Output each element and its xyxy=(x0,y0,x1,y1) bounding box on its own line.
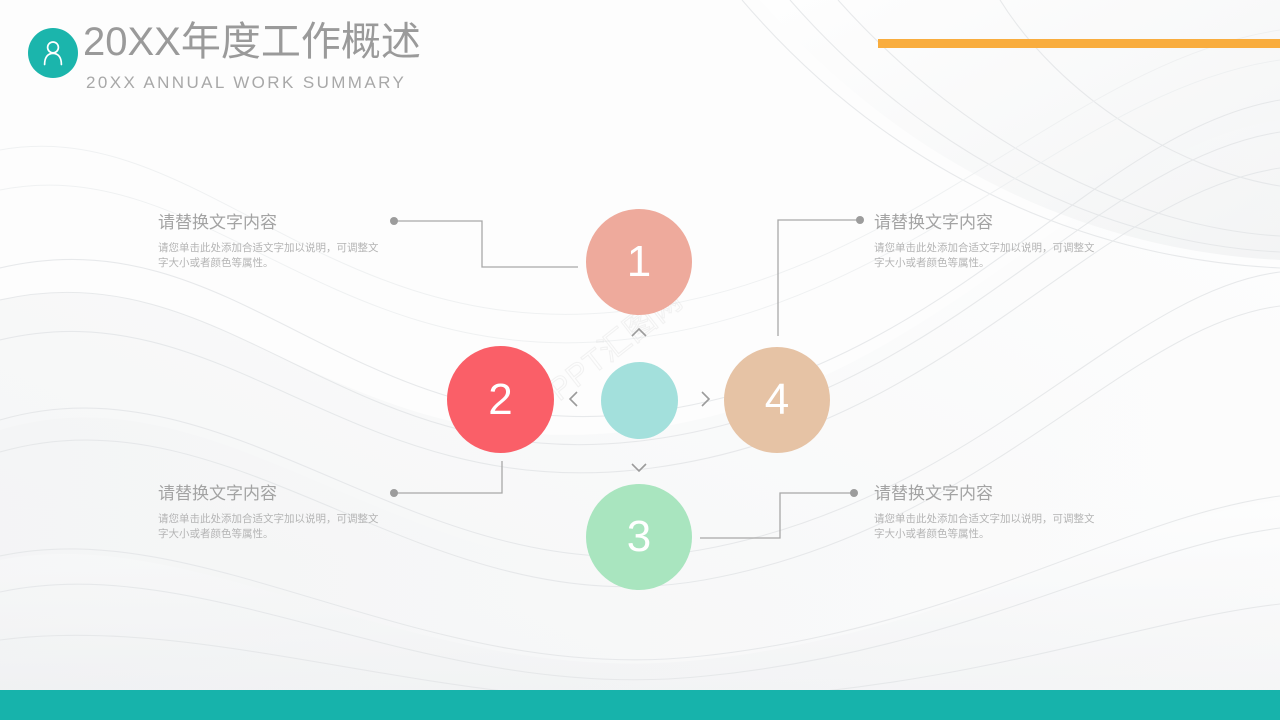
diagram-node-1[interactable]: 1 xyxy=(586,209,692,315)
text-block-2-heading: 请替换文字内容 xyxy=(158,483,383,505)
diagram-node-3-number: 3 xyxy=(627,515,651,559)
chevron-left-icon xyxy=(562,388,584,410)
diagram-node-2-number: 2 xyxy=(488,378,512,422)
text-block-4-heading: 请替换文字内容 xyxy=(874,483,1099,505)
chevron-up-icon xyxy=(628,322,650,344)
slide-canvas: PPT汇图网 20XX年度工作概述 20XX ANNUAL WORK SUMMA… xyxy=(0,0,1280,720)
diagram-node-4-number: 4 xyxy=(765,378,789,422)
diagram-node-4[interactable]: 4 xyxy=(724,347,830,453)
diagram-node-3[interactable]: 3 xyxy=(586,484,692,590)
footer-bar xyxy=(0,690,1280,720)
slide-header: 20XX年度工作概述 20XX ANNUAL WORK SUMMARY xyxy=(0,0,1280,110)
text-block-4-body: 请您单击此处添加合适文字加以说明，可调整文字大小或者颜色等属性。 xyxy=(874,512,1099,542)
text-block-4[interactable]: 请替换文字内容 请您单击此处添加合适文字加以说明，可调整文字大小或者颜色等属性。 xyxy=(874,483,1099,542)
page-subtitle: 20XX ANNUAL WORK SUMMARY xyxy=(86,73,406,93)
logo-badge xyxy=(28,28,78,78)
diagram-center-node[interactable] xyxy=(601,362,678,439)
header-accent-bar xyxy=(878,39,1280,48)
chevron-right-icon xyxy=(695,388,717,410)
text-block-1-body: 请您单击此处添加合适文字加以说明，可调整文字大小或者颜色等属性。 xyxy=(158,241,383,271)
page-title: 20XX年度工作概述 xyxy=(83,17,421,67)
diagram-node-2[interactable]: 2 xyxy=(447,346,554,453)
user-avatar-icon xyxy=(40,39,66,67)
text-block-3-body: 请您单击此处添加合适文字加以说明，可调整文字大小或者颜色等属性。 xyxy=(874,241,1099,271)
text-block-2-body: 请您单击此处添加合适文字加以说明，可调整文字大小或者颜色等属性。 xyxy=(158,512,383,542)
text-block-1[interactable]: 请替换文字内容 请您单击此处添加合适文字加以说明，可调整文字大小或者颜色等属性。 xyxy=(158,212,383,271)
text-block-3[interactable]: 请替换文字内容 请您单击此处添加合适文字加以说明，可调整文字大小或者颜色等属性。 xyxy=(874,212,1099,271)
text-block-3-heading: 请替换文字内容 xyxy=(874,212,1099,234)
chevron-down-icon xyxy=(628,456,650,478)
text-block-1-heading: 请替换文字内容 xyxy=(158,212,383,234)
diagram-node-1-number: 1 xyxy=(627,240,651,284)
text-block-2[interactable]: 请替换文字内容 请您单击此处添加合适文字加以说明，可调整文字大小或者颜色等属性。 xyxy=(158,483,383,542)
